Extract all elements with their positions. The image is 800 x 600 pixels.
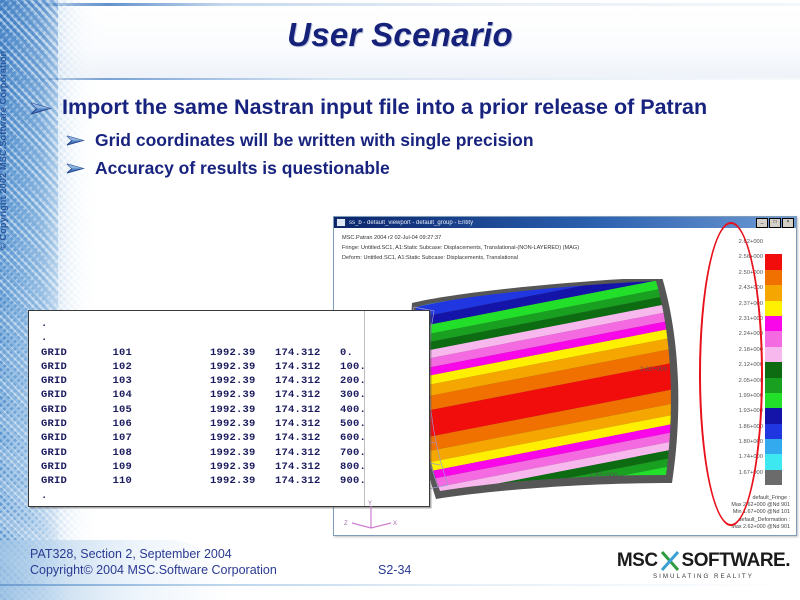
- colorbar-swatch: [765, 254, 782, 269]
- annotation-line: Max 2.62+000 @Nd 901: [731, 524, 790, 531]
- colorbar-label: 1.67+000: [717, 466, 763, 481]
- colorbar-label: 1.74+000: [717, 450, 763, 465]
- page-number: S2-34: [378, 562, 411, 578]
- colorbar-labels: 2.62+000 2.56+000 2.50+000 2.43+000 2.37…: [717, 235, 763, 481]
- logo-tagline: SIMULATING REALITY: [617, 573, 790, 580]
- patran-header-line-3: Deform: Untitled.SC1, A1:Static Subcase:…: [342, 255, 518, 261]
- colorbar-label: 2.37+000: [717, 297, 763, 312]
- patran-header-line-1: MSC.Patran 2004 r2 02-Jul-04 09:27:37: [342, 235, 441, 241]
- bullet-item-3: Accuracy of results is questionable: [66, 158, 775, 181]
- colorbar-swatch: [765, 331, 782, 346]
- footer-divider-rule: [0, 584, 800, 586]
- colorbar-label: 2.62+000: [717, 235, 763, 250]
- logo-x-icon: [659, 550, 681, 572]
- colorbar-label: 1.86+000: [717, 420, 763, 435]
- bullet-text: Import the same Nastran input file into …: [62, 95, 707, 120]
- logo-msc-text: MSC: [617, 550, 658, 572]
- colorbar-label: 2.18+000: [717, 343, 763, 358]
- colorbar-label: 1.80+000: [717, 435, 763, 450]
- fringe-annotations: default_Fringe : Max 2.62+000 @Nd 901 Mi…: [731, 495, 790, 531]
- left-decorative-band: [0, 0, 108, 600]
- svg-text:Y: Y: [368, 501, 372, 507]
- colorbar-label: 2.24+000: [717, 327, 763, 342]
- vertical-copyright-text: © Copyright 2002 MSC.Software Corporatio…: [0, 51, 8, 250]
- colorbar-swatch: [765, 270, 782, 285]
- colorbar-label: 1.93+000: [717, 404, 763, 419]
- bullet-text: Accuracy of results is questionable: [95, 158, 390, 179]
- header-divider-rule: [0, 78, 800, 80]
- svg-text:1.67+000: 1.67+000: [590, 472, 618, 479]
- colorbar-swatch: [765, 393, 782, 408]
- colorbar-swatch: [765, 454, 782, 469]
- colorbar-swatch: [765, 439, 782, 454]
- bullet-item-1: Import the same Nastran input file into …: [30, 95, 775, 122]
- maximize-icon[interactable]: □: [769, 218, 781, 228]
- colorbar-label: 2.31+000: [717, 312, 763, 327]
- colorbar-swatch: [765, 301, 782, 316]
- colorbar-swatch: [765, 316, 782, 331]
- chevron-bullet-icon: [66, 162, 85, 181]
- chevron-bullet-icon: [30, 101, 52, 122]
- footer-line-2: Copyright© 2004 MSC.Software Corporation: [30, 562, 277, 578]
- svg-text:Z: Z: [344, 521, 348, 527]
- svg-text:X: X: [393, 521, 397, 527]
- colorbar-swatch: [765, 378, 782, 393]
- footer-line-1: PAT328, Section 2, September 2004: [30, 546, 277, 562]
- patran-window-titlebar[interactable]: ss_b - default_viewport - default_group …: [334, 217, 796, 228]
- bullet-text: Grid coordinates will be written with si…: [95, 130, 534, 151]
- window-controls[interactable]: _ □ ×: [756, 218, 796, 228]
- bullet-item-2: Grid coordinates will be written with si…: [66, 130, 775, 153]
- left-decorative-mesh: [0, 0, 58, 600]
- fringe-color-bands: [394, 279, 694, 504]
- page-title: User Scenario: [0, 16, 800, 54]
- annotation-line: default_Fringe :: [731, 495, 790, 502]
- axis-triad: Y Z X: [336, 500, 406, 542]
- chevron-bullet-icon: [66, 134, 85, 153]
- colorbar-swatch: [765, 408, 782, 423]
- top-divider-rule: [0, 3, 800, 6]
- window-title-text: ss_b - default_viewport - default_group …: [349, 220, 756, 226]
- close-icon[interactable]: ×: [782, 218, 794, 228]
- colorbar-label: 2.05+000: [717, 374, 763, 389]
- fringe-plot-model: 2.62+000 1.67+000: [394, 279, 694, 504]
- patran-header-line-2: Fringe: Untitled.SC1, A1:Static Subcase:…: [342, 245, 579, 251]
- colorbar-swatch: [765, 239, 782, 254]
- annotation-line: Min 1.67+000 @Nd 101: [731, 509, 790, 516]
- colorbar-swatch: [765, 424, 782, 439]
- annotation-line: default_Deformation :: [731, 517, 790, 524]
- colorbar-swatch: [765, 285, 782, 300]
- colorbar-swatch: [765, 347, 782, 362]
- colorbar-label: 2.43+000: [717, 281, 763, 296]
- nastran-grid-text-box: . . GRID 101 1992.39 174.312 0. GRID 102…: [28, 310, 430, 507]
- grid-card-text: . . GRID 101 1992.39 174.312 0. GRID 102…: [29, 311, 429, 507]
- window-app-icon: [336, 218, 346, 227]
- slide-canvas: User Scenario Import the same Nastran in…: [0, 0, 800, 600]
- grid-box-column-divider: [364, 311, 365, 506]
- svg-text:2.62+000: 2.62+000: [640, 366, 668, 373]
- colorbar-label: 2.12+000: [717, 358, 763, 373]
- colorbar-swatch: [765, 470, 782, 485]
- fringe-colorbar: [765, 239, 782, 485]
- msc-software-logo: MSC SOFTWARE. SIMULATING REALITY: [617, 550, 790, 580]
- colorbar-label: 1.99+000: [717, 389, 763, 404]
- minimize-icon[interactable]: _: [756, 218, 768, 228]
- bullet-list: Import the same Nastran input file into …: [30, 95, 775, 181]
- colorbar-label: 2.50+000: [717, 266, 763, 281]
- annotation-line: Max 2.62+000 @Nd 901: [731, 502, 790, 509]
- colorbar-swatch: [765, 362, 782, 377]
- colorbar-label: 2.56+000: [717, 250, 763, 265]
- footer-credits: PAT328, Section 2, September 2004 Copyri…: [30, 546, 277, 578]
- logo-software-text: SOFTWARE.: [682, 550, 790, 572]
